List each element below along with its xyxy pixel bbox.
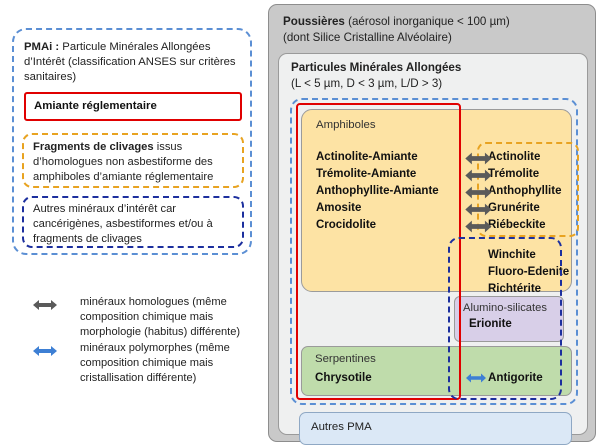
amiante-reglementaire-frame (296, 103, 461, 400)
poussieres-subtitle: (dont Silice Cristalline Alvéolaire) (283, 31, 452, 44)
pma-card: Particules Minérales Allongées (L < 5 µm… (278, 53, 588, 435)
double-arrow-gray-icon (464, 150, 493, 167)
legend-panel: PMAi : Particule Minérales Allongées d’I… (0, 0, 266, 447)
pma-criteria: (L < 5 µm, D < 3 µm, L/D > 3) (291, 77, 442, 90)
double-arrow-blue-icon (32, 344, 58, 358)
fragments-clivages-text: Fragments de clivages issus d’homologues… (33, 140, 239, 184)
legend-polymorphes-text: minéraux polymorphes (même composition c… (80, 341, 252, 386)
poussieres-title-rest: (aérosol inorganique < 100 µm) (345, 15, 510, 28)
poussieres-title: Poussières (aérosol inorganique < 100 µm… (283, 14, 593, 45)
amiante-reglementaire-label: Amiante réglementaire (34, 100, 157, 112)
fragments-clivages-title: Fragments de clivages (33, 141, 154, 153)
autres-mineraux-text: Autres minéraux d’intérêt car cancérigèn… (33, 202, 239, 246)
double-arrow-gray-icon (464, 184, 493, 201)
double-arrow-gray-icon (464, 201, 493, 218)
autres-pma-box: Autres PMA (299, 412, 572, 445)
fragments-clivages-box: Fragments de clivages issus d’homologues… (22, 133, 244, 188)
pmai-definition: PMAi : Particule Minérales Allongées d’I… (24, 40, 246, 85)
diagram-root: PMAi : Particule Minérales Allongées d’I… (0, 0, 600, 447)
pma-title: Particules Minérales Allongées (L < 5 µm… (291, 60, 581, 91)
homologue-arrows-column (464, 150, 486, 235)
poussieres-panel: Poussières (aérosol inorganique < 100 µm… (268, 4, 596, 442)
amiante-reglementaire-box: Amiante réglementaire (24, 92, 242, 121)
double-arrow-gray-icon (464, 167, 493, 184)
poussieres-title-bold: Poussières (283, 15, 345, 28)
pma-title-bold: Particules Minérales Allongées (291, 61, 461, 74)
legend-homologues-text: minéraux homologues (même composition ch… (80, 295, 252, 340)
pmai-abbrev: PMAi : (24, 41, 59, 53)
autres-mineraux-box: Autres minéraux d’intérêt car cancérigèn… (22, 196, 244, 248)
autres-mineraux-dashed-group (448, 237, 562, 400)
autres-pma-label: Autres PMA (311, 421, 372, 433)
double-arrow-gray-icon (32, 298, 58, 312)
double-arrow-gray-icon (464, 218, 493, 235)
